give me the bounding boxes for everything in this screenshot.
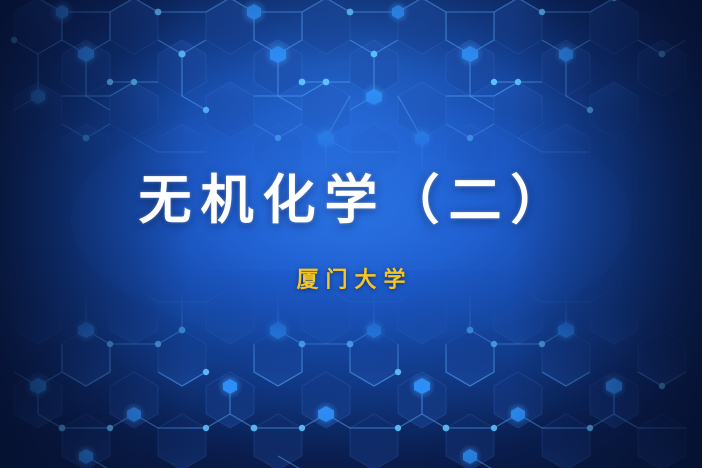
title-block: 无机化学（二） 厦门大学 (0, 0, 702, 468)
title-slide: 无机化学（二） 厦门大学 (0, 0, 702, 468)
page-title: 无机化学（二） (130, 174, 573, 230)
institution-subtitle: 厦门大学 (289, 262, 412, 294)
